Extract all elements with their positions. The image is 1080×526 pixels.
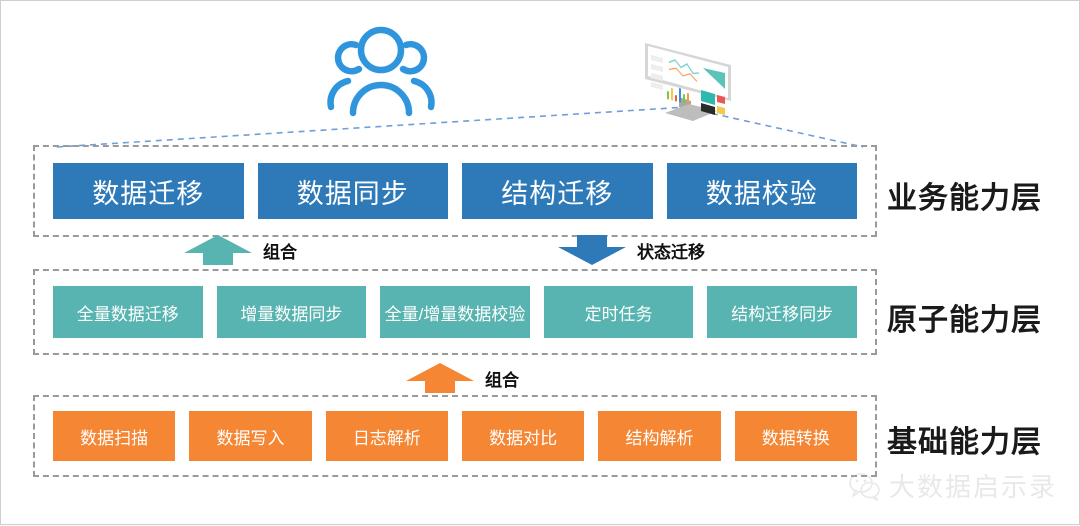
wechat-logo-icon xyxy=(847,471,881,501)
tile-basic-5[interactable]: 数据转换 xyxy=(735,411,857,461)
tile-business-1[interactable]: 数据同步 xyxy=(258,163,449,219)
diagram-canvas: 数据迁移 数据同步 结构迁移 数据校验 业务能力层 组合 状态迁移 全量数据迁移… xyxy=(0,0,1080,525)
arrow-group-combine-lower: 组合 xyxy=(405,361,519,395)
layer-title-basic: 基础能力层 xyxy=(887,417,1042,461)
arrow-up-teal-icon xyxy=(183,233,253,267)
watermark: 大数据启示录 xyxy=(847,467,1057,504)
tile-basic-1[interactable]: 数据写入 xyxy=(189,411,311,461)
tile-basic-3[interactable]: 数据对比 xyxy=(462,411,584,461)
layer-business-capability: 数据迁移 数据同步 结构迁移 数据校验 xyxy=(33,145,877,237)
tile-atomic-4[interactable]: 结构迁移同步 xyxy=(707,286,857,338)
layer-title-business: 业务能力层 xyxy=(887,173,1042,217)
arrow-label-combine-top: 组合 xyxy=(263,238,297,263)
arrow-group-combine-top: 组合 xyxy=(183,233,297,267)
arrow-up-orange-icon xyxy=(405,361,475,395)
business-tiles-row: 数据迁移 数据同步 结构迁移 数据校验 xyxy=(53,163,857,219)
tile-atomic-0[interactable]: 全量数据迁移 xyxy=(53,286,203,338)
basic-tiles-row: 数据扫描 数据写入 日志解析 数据对比 结构解析 数据转换 xyxy=(53,411,857,461)
tile-basic-0[interactable]: 数据扫描 xyxy=(53,411,175,461)
tile-atomic-2[interactable]: 全量/增量数据校验 xyxy=(380,286,530,338)
layer-atomic-capability: 全量数据迁移 增量数据同步 全量/增量数据校验 定时任务 结构迁移同步 xyxy=(33,269,877,355)
layer-title-atomic: 原子能力层 xyxy=(887,295,1042,339)
people-group-icon xyxy=(323,23,439,119)
layer-basic-capability: 数据扫描 数据写入 日志解析 数据对比 结构解析 数据转换 xyxy=(33,395,877,477)
arrow-down-blue-icon xyxy=(557,233,627,267)
tile-basic-2[interactable]: 日志解析 xyxy=(326,411,448,461)
atomic-tiles-row: 全量数据迁移 增量数据同步 全量/增量数据校验 定时任务 结构迁移同步 xyxy=(53,286,857,338)
tile-atomic-1[interactable]: 增量数据同步 xyxy=(217,286,367,338)
tile-business-0[interactable]: 数据迁移 xyxy=(53,163,244,219)
tile-business-2[interactable]: 结构迁移 xyxy=(462,163,653,219)
tile-business-3[interactable]: 数据校验 xyxy=(667,163,858,219)
tile-basic-4[interactable]: 结构解析 xyxy=(598,411,720,461)
arrow-group-state-transfer: 状态迁移 xyxy=(557,233,705,267)
monitor-dashboard-icon xyxy=(631,27,743,125)
arrow-label-combine-lower: 组合 xyxy=(485,366,519,391)
arrow-label-state-transfer: 状态迁移 xyxy=(637,238,705,263)
tile-atomic-3[interactable]: 定时任务 xyxy=(544,286,694,338)
watermark-text: 大数据启示录 xyxy=(889,467,1057,504)
